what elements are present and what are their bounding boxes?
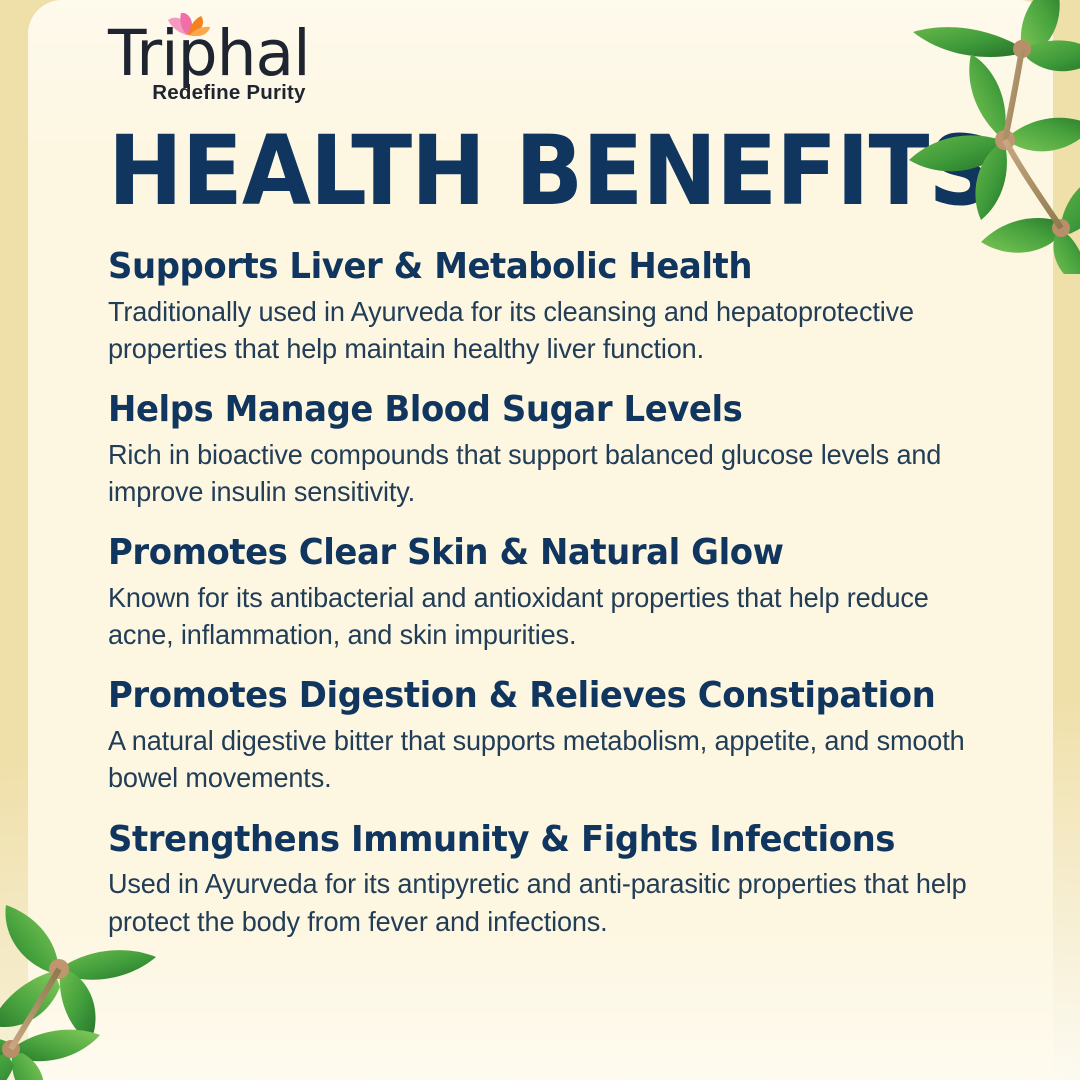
benefit-item-4: Promotes Digestion & Relieves Constipati… [108, 675, 1003, 796]
benefit-heading: Strengthens Immunity & Fights Infections [108, 819, 963, 861]
benefit-description: Used in Ayurveda for its antipyretic and… [108, 865, 990, 939]
benefit-item-5: Strengthens Immunity & Fights Infections… [108, 819, 1003, 940]
health-benefits-poster: Triphal Redefine Purity HEALTH BENEFITS … [0, 0, 1080, 1080]
benefit-description: Rich in bioactive compounds that support… [108, 436, 990, 510]
benefit-item-3: Promotes Clear Skin & Natural Glow Known… [108, 532, 1003, 653]
lotus-flower-icon [160, 2, 216, 36]
benefit-description: Traditionally used in Ayurveda for its c… [108, 293, 990, 367]
poster-card: Triphal Redefine Purity HEALTH BENEFITS … [28, 0, 1053, 1080]
brand-logo: Triphal Redefine Purity [108, 22, 310, 105]
benefit-heading: Supports Liver & Metabolic Health [108, 246, 963, 288]
benefit-description: A natural digestive bitter that supports… [108, 722, 990, 796]
benefit-item-1: Supports Liver & Metabolic Health Tradit… [108, 246, 1003, 367]
benefit-heading: Helps Manage Blood Sugar Levels [108, 389, 963, 431]
benefit-heading: Promotes Digestion & Relieves Constipati… [108, 675, 963, 717]
benefit-description: Known for its antibacterial and antioxid… [108, 579, 990, 653]
page-title: HEALTH BENEFITS [108, 123, 992, 219]
benefit-heading: Promotes Clear Skin & Natural Glow [108, 532, 963, 574]
benefit-item-2: Helps Manage Blood Sugar Levels Rich in … [108, 389, 1003, 510]
benefits-list: Supports Liver & Metabolic Health Tradit… [108, 246, 1003, 940]
